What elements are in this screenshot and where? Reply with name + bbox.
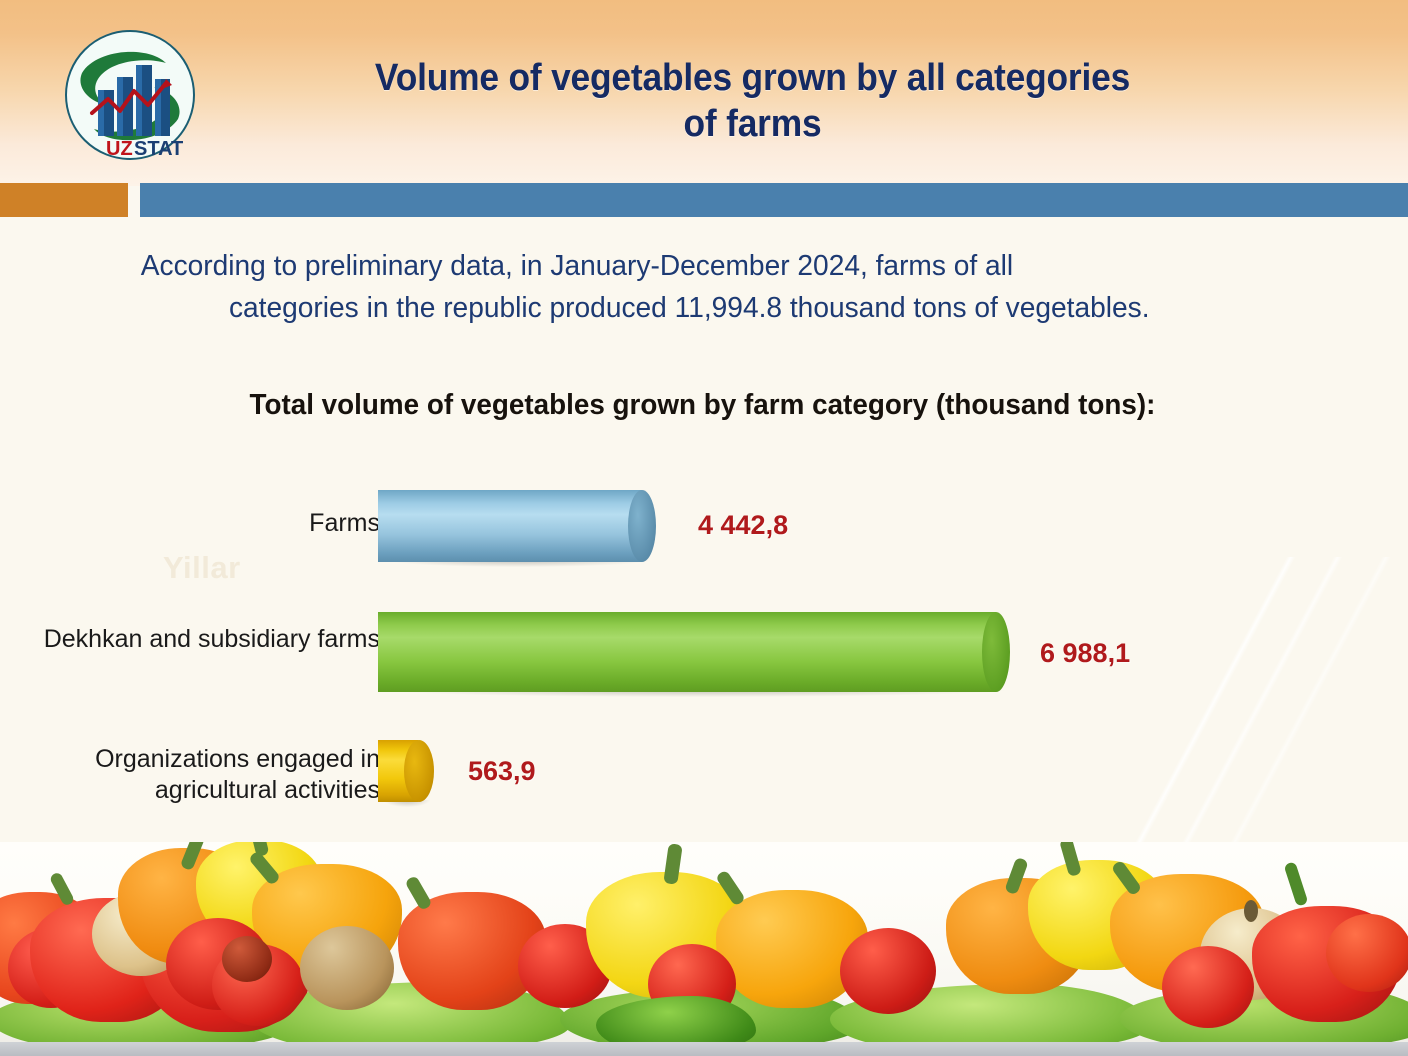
tomato [1326, 914, 1408, 992]
bar-dekhkan[interactable] [378, 612, 1010, 692]
vegetable-photo-border [0, 842, 1408, 1056]
page-title: Volume of vegetables grown by all catego… [271, 55, 1234, 147]
intro-line-1: According to preliminary data, in Januar… [141, 250, 1013, 282]
cherry-tomato [222, 936, 272, 982]
bar-farms[interactable] [378, 490, 656, 562]
bar-body [378, 490, 642, 562]
divider-blue-segment [140, 183, 1408, 217]
tomato [840, 928, 936, 1014]
bar-value-dekhkan: 6 988,1 [1040, 638, 1130, 669]
category-label-dekhkan: Dekhkan and subsidiary farms [20, 624, 380, 655]
tomato [1162, 946, 1254, 1028]
category-label-farms: Farms [20, 508, 380, 539]
divider-orange-segment [0, 183, 128, 217]
header-divider [0, 183, 1408, 217]
bar-value-organizations: 563,9 [468, 756, 536, 787]
page-title-line1: Volume of vegetables grown by all catego… [271, 55, 1234, 101]
intro-paragraph: According to preliminary data, in Januar… [100, 245, 1279, 329]
bar-body [378, 612, 996, 692]
category-label-organizations: Organizations engaged in agricultural ac… [20, 744, 380, 806]
page-title-line2: of farms [271, 101, 1234, 147]
slide-content: According to preliminary data, in Januar… [0, 217, 1408, 842]
chart-row-organizations: Organizations engaged in agricultural ac… [0, 740, 1408, 802]
chart-title: Total volume of vegetables grown by farm… [191, 387, 1213, 424]
chart-row-dekhkan: Yillar Dekhkan and subsidiary farms 6 98… [0, 612, 1408, 692]
onion-stem [1244, 900, 1258, 922]
svg-text:UZ: UZ [106, 138, 133, 160]
intro-line-2: categories in the republic produced 11,9… [100, 287, 1279, 329]
svg-text:STAT: STAT [134, 138, 183, 160]
slide-root: UZ STAT Volume of vegetables grown by al… [0, 0, 1408, 1056]
watermark-yillar: Yillar [163, 550, 241, 586]
uzstat-logo: UZ STAT [62, 27, 198, 163]
bar-value-farms: 4 442,8 [698, 510, 788, 541]
horizontal-bar-chart: Farms 4 442,8 Yillar Dekhkan and subsidi… [0, 472, 1408, 822]
onion [300, 926, 394, 1010]
bar-end-cap [404, 740, 434, 802]
bar-end-cap [628, 490, 656, 562]
bar-end-cap [982, 612, 1010, 692]
slide-header: UZ STAT Volume of vegetables grown by al… [0, 0, 1408, 186]
bar-organizations[interactable] [378, 740, 434, 802]
surface-line [0, 1042, 1408, 1056]
